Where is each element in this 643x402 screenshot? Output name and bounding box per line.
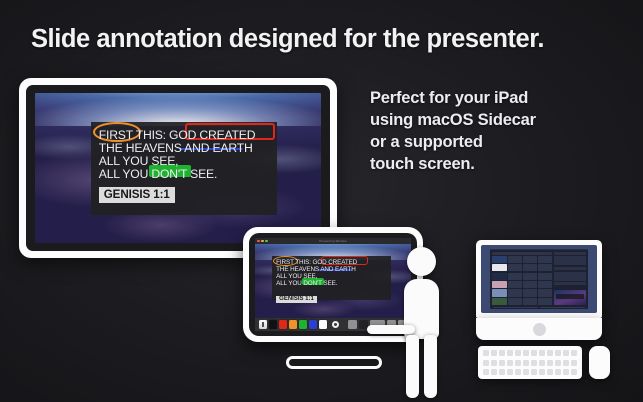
footer-button[interactable] bbox=[493, 307, 538, 308]
slide-text-block: FIRST THIS: GOD CREATED THE HEAVENS AND … bbox=[272, 256, 391, 300]
figure-leg bbox=[424, 335, 437, 398]
presenter-app-window[interactable] bbox=[490, 249, 588, 309]
color-swatch-white[interactable] bbox=[319, 320, 327, 329]
inspector-field[interactable] bbox=[554, 267, 586, 270]
eraser-tool-icon[interactable] bbox=[332, 321, 339, 328]
promo-line: touch screen. bbox=[370, 154, 632, 176]
promo-copy: Perfect for your iPad using macOS Sideca… bbox=[370, 88, 632, 176]
slide-preview[interactable] bbox=[554, 290, 586, 305]
slide-line: THE HEAVENS AND EARTH bbox=[276, 266, 387, 273]
color-swatch-orange[interactable] bbox=[289, 320, 297, 329]
app-footer bbox=[490, 307, 588, 309]
tablet-screen[interactable]: FIRST THIS: GOD CREATED THE HEAVENS AND … bbox=[255, 244, 411, 318]
row-cells bbox=[508, 256, 552, 263]
slide-thumbnail[interactable] bbox=[492, 256, 507, 263]
slide-thumbnail[interactable] bbox=[492, 281, 507, 288]
slide-line: FIRST THIS: GOD CREATED bbox=[99, 129, 269, 142]
slide-text-block: FIRST THIS: GOD CREATED THE HEAVENS AND … bbox=[91, 122, 277, 215]
row-cells bbox=[508, 264, 552, 271]
slide-reference: GENISIS 1:1 bbox=[99, 187, 175, 203]
imac-screen bbox=[476, 240, 602, 318]
slide-line: THE HEAVENS AND EARTH bbox=[99, 142, 269, 155]
color-swatch-black[interactable] bbox=[269, 320, 277, 329]
tablet-window-title: Presenting Window bbox=[255, 239, 411, 243]
table-row[interactable] bbox=[492, 289, 552, 296]
table-row[interactable] bbox=[492, 256, 552, 263]
color-swatch-blue[interactable] bbox=[309, 320, 317, 329]
row-cells bbox=[508, 281, 552, 288]
row-cells bbox=[508, 298, 552, 305]
slide-line: FIRST THIS: GOD CREATED bbox=[276, 259, 387, 266]
table-row[interactable] bbox=[492, 281, 552, 288]
apple-logo-icon bbox=[533, 323, 546, 336]
tablet-stand bbox=[286, 356, 382, 369]
imac-device bbox=[476, 240, 602, 340]
tablet-bezel: Presenting Window FIRST THIS: GOD CREATE… bbox=[249, 233, 417, 336]
figure-head bbox=[407, 247, 436, 276]
pen-tool-icon[interactable] bbox=[259, 320, 267, 329]
promo-canvas: Slide annotation designed for the presen… bbox=[0, 0, 643, 402]
inspector-field[interactable] bbox=[554, 272, 586, 281]
slide-line: ALL YOU DON'T SEE. bbox=[99, 168, 269, 181]
promo-line: using macOS Sidecar bbox=[370, 110, 632, 132]
imac-desktop bbox=[481, 245, 597, 313]
mouse[interactable] bbox=[589, 346, 610, 379]
inspector-field[interactable] bbox=[554, 282, 586, 285]
app-inspector-panel[interactable] bbox=[554, 252, 586, 305]
slide-reference: GENISIS 1:1 bbox=[276, 296, 317, 303]
slide-list-header bbox=[492, 252, 552, 255]
table-row[interactable] bbox=[492, 298, 552, 305]
app-body bbox=[490, 250, 588, 307]
inspector-field[interactable] bbox=[554, 252, 586, 255]
color-swatch-green[interactable] bbox=[299, 320, 307, 329]
figure-arm bbox=[367, 325, 415, 334]
keyboard[interactable] bbox=[478, 346, 582, 379]
keyboard-row bbox=[483, 369, 577, 375]
promo-line: Perfect for your iPad bbox=[370, 88, 632, 110]
keyboard-row bbox=[483, 360, 577, 366]
row-cells bbox=[508, 273, 552, 280]
slide-line: ALL YOU SEE, bbox=[276, 273, 387, 280]
color-swatch-red[interactable] bbox=[279, 320, 287, 329]
slide-thumbnail[interactable] bbox=[492, 289, 507, 296]
row-cells bbox=[508, 289, 552, 296]
slide-thumbnail[interactable] bbox=[492, 273, 507, 280]
slide-line: ALL YOU DON'T SEE. bbox=[276, 280, 387, 287]
table-row[interactable] bbox=[492, 273, 552, 280]
inspector-field[interactable] bbox=[554, 256, 586, 265]
table-row[interactable] bbox=[492, 264, 552, 271]
page-title: Slide annotation designed for the presen… bbox=[31, 25, 544, 54]
slide-thumbnail[interactable] bbox=[492, 298, 507, 305]
figure-leg bbox=[406, 335, 419, 398]
toolbar-button[interactable] bbox=[348, 320, 357, 329]
promo-line: or a supported bbox=[370, 132, 632, 154]
presenter-figure bbox=[399, 247, 447, 402]
slide-line: ALL YOU SEE, bbox=[99, 155, 269, 168]
slide-list[interactable] bbox=[492, 252, 552, 305]
slide-thumbnail[interactable] bbox=[492, 264, 507, 271]
monitor-screen: FIRST THIS: GOD CREATED THE HEAVENS AND … bbox=[35, 93, 321, 243]
figure-body bbox=[404, 279, 439, 339]
imac-chin bbox=[476, 318, 602, 340]
keyboard-row bbox=[483, 350, 577, 356]
footer-button[interactable] bbox=[540, 307, 585, 308]
